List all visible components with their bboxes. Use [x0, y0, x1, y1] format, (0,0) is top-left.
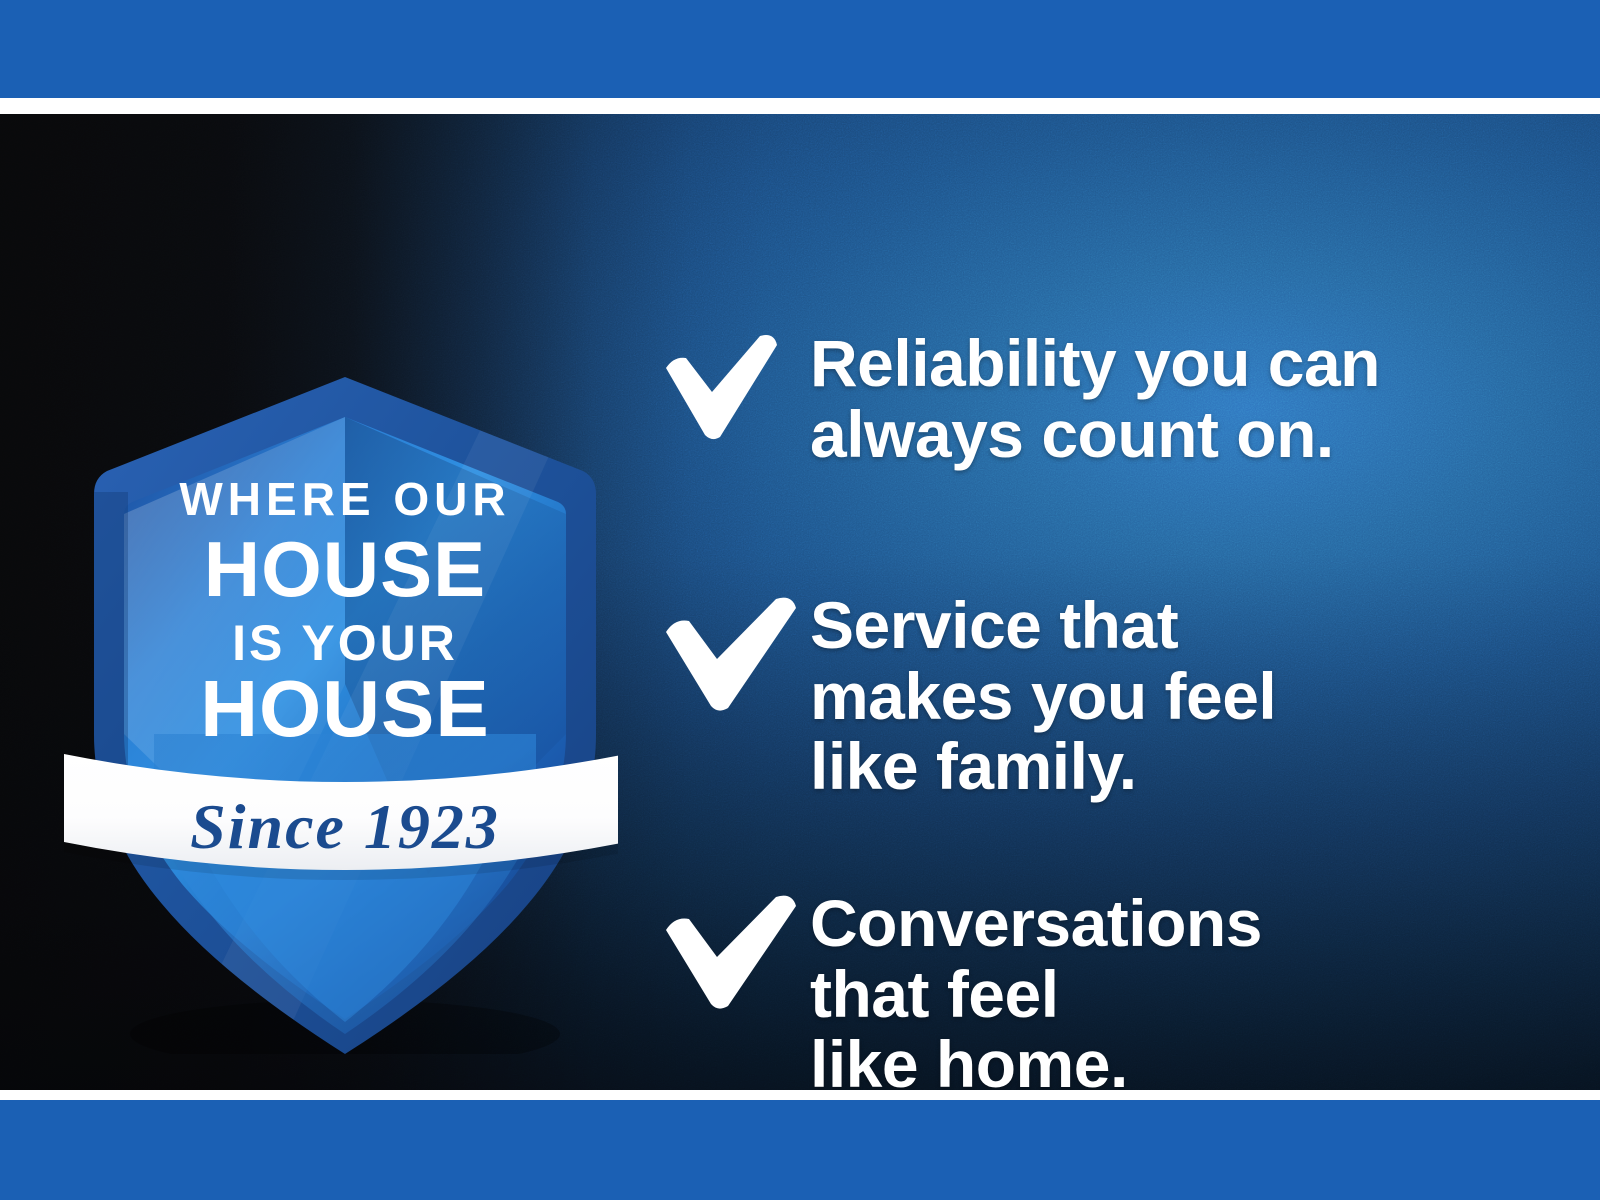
benefit-text: Conversations that feel like home.: [810, 888, 1262, 1090]
benefit-item: Conversations that feel like home.: [660, 888, 1262, 1090]
shield-tagline-line-3: IS YOUR: [232, 615, 458, 671]
promo-graphic: WHERE OUR HOUSE IS YOUR HOUSE Since 1923…: [0, 0, 1600, 1200]
shield-tagline-line-2: HOUSE: [204, 525, 486, 613]
benefit-text: Service that makes you feel like family.: [810, 590, 1276, 802]
checkmark-icon: [660, 888, 810, 1012]
main-stage: WHERE OUR HOUSE IS YOUR HOUSE Since 1923…: [0, 114, 1600, 1090]
shield-ribbon-text: Since 1923: [190, 791, 500, 862]
bottom-brand-bar: [0, 1100, 1600, 1200]
benefit-text: Reliability you can always count on.: [810, 328, 1380, 469]
checkmark-icon: [660, 590, 810, 714]
shield-tagline-line-4: HOUSE: [200, 664, 490, 753]
benefit-item: Reliability you can always count on.: [660, 328, 1380, 469]
benefits-list: Reliability you can always count on. Ser…: [660, 228, 1540, 1090]
checkmark-icon: [660, 328, 810, 442]
shield-emblem: WHERE OUR HOUSE IS YOUR HOUSE Since 1923: [58, 264, 618, 1054]
top-brand-bar: [0, 0, 1600, 98]
shield-tagline-line-1: WHERE OUR: [179, 473, 510, 525]
benefit-item: Service that makes you feel like family.: [660, 590, 1276, 802]
